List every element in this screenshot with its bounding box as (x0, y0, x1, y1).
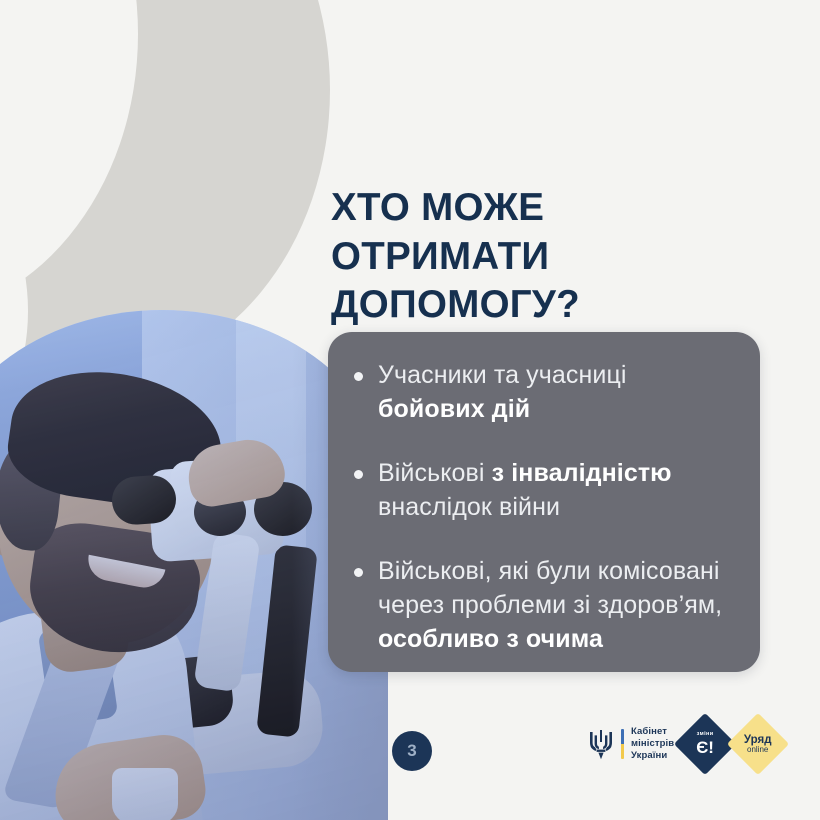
list-item-lead: Військові (378, 459, 492, 487)
page-number-badge: 3 (392, 731, 432, 771)
list-item-lead: Учасники та учасниці (378, 361, 627, 389)
bullet-dot-icon (354, 568, 363, 577)
list-item-text: Учасники та учасниці бойових дій (378, 358, 734, 426)
list-item-text: Військові, які були комісовані через про… (378, 554, 734, 656)
cabinet-label-line3: України (631, 750, 674, 762)
list-item-tail: внаслідок війни (378, 493, 560, 521)
eligibility-card: Учасники та учасниці бойових дій Військо… (328, 332, 760, 672)
uryad-logo-bottom-label: online (744, 746, 772, 754)
list-item-bold: з інвалідністю (492, 459, 672, 487)
cabinet-label-line2: міністрів (631, 738, 674, 750)
page-title: ХТО МОЖЕ ОТРИМАТИ ДОПОМОГУ? (331, 184, 769, 330)
zmini-logo-text: зміни Є! (696, 732, 714, 756)
zmini-logo-top-label: зміни (696, 732, 714, 738)
cabinet-of-ministers-logo[interactable]: Кабінет міністрів України (588, 726, 674, 762)
list-item: Військові з інвалідністю внаслідок війни (354, 456, 734, 524)
list-item: Учасники та учасниці бойових дій (354, 358, 734, 426)
cabinet-of-ministers-label: Кабінет міністрів України (631, 726, 674, 762)
zmini-logo-main-label: Є! (696, 739, 714, 756)
bullet-dot-icon (354, 372, 363, 381)
cabinet-label-line1: Кабінет (631, 726, 674, 738)
list-item-bold: особливо з очима (378, 625, 603, 653)
list-item-bold: бойових дій (378, 395, 530, 423)
flag-divider (621, 729, 624, 759)
tryzub-icon (588, 728, 614, 761)
uryad-online-logo[interactable]: Уряд online (727, 713, 789, 775)
list-item-lead: Військові, які були комісовані через про… (378, 557, 722, 619)
list-item-text: Військові з інвалідністю внаслідок війни (378, 456, 734, 524)
slide-canvas: ХТО МОЖЕ ОТРИМАТИ ДОПОМОГУ? Учасники та … (0, 0, 820, 820)
footer-logo-group: Кабінет міністрів України зміни Є! Уряд … (588, 722, 780, 766)
uryad-logo-text: Уряд online (744, 734, 772, 754)
list-item: Військові, які були комісовані через про… (354, 554, 734, 656)
bullet-dot-icon (354, 470, 363, 479)
